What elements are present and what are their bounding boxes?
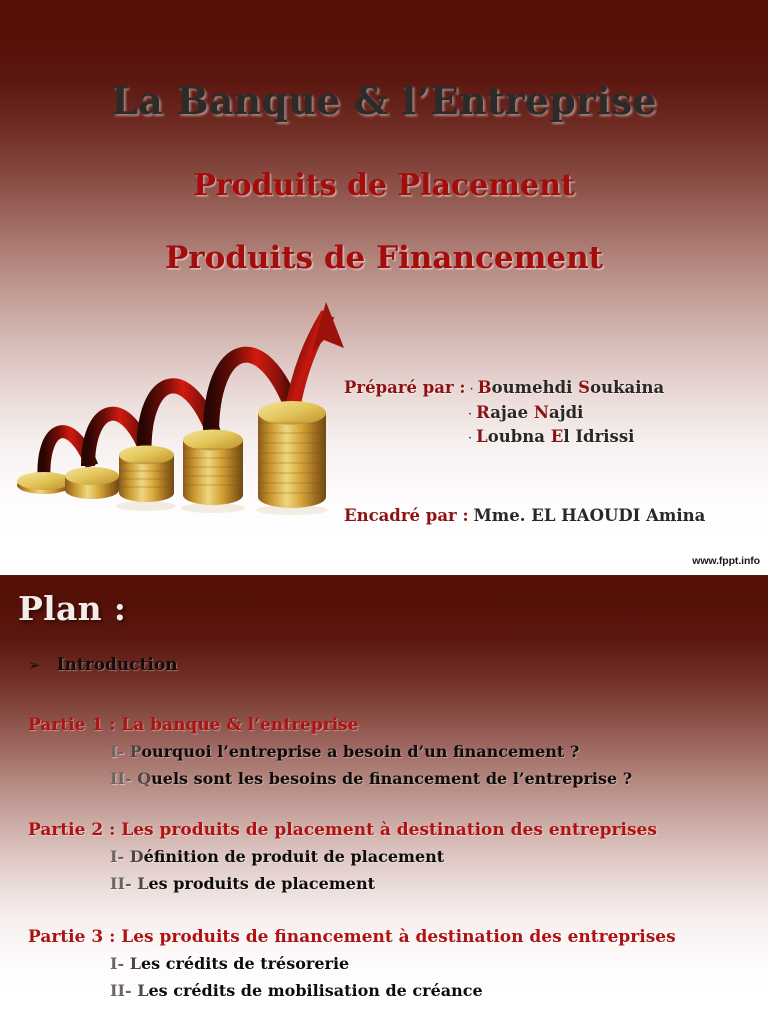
roman-numeral: II- xyxy=(110,769,132,788)
subitem-text: éfinition de produit de placement xyxy=(144,847,445,866)
part-subitem[interactable]: I- Les crédits de trésorerie xyxy=(110,954,768,974)
part-subitem[interactable]: II- Quels sont les besoins de financemen… xyxy=(110,769,768,789)
list-bullet-icon: · xyxy=(470,383,474,396)
plan-part-3: Partie 3 : Les produits de financement à… xyxy=(0,927,768,1001)
supervisor-name: Mme. EL HAOUDI Amina xyxy=(474,506,706,525)
part-heading[interactable]: Partie 3 : Les produits de financement à… xyxy=(28,927,768,948)
supervisor-label: Encadré par : xyxy=(344,506,469,525)
subtitle-financement: Produits de Financement xyxy=(0,240,768,276)
plan-item-introduction[interactable]: ➢ Introduction xyxy=(28,655,178,675)
author-name-3: Loubna El Idrissi xyxy=(476,429,634,446)
part-subitem[interactable]: I- Définition de produit de placement xyxy=(110,847,768,867)
page-title: La Banque & l’Entreprise xyxy=(0,78,768,123)
part-subitem[interactable]: I- Pourquoi l’entreprise a besoin d’un f… xyxy=(110,742,768,762)
subtitle-placement: Produits de Placement xyxy=(0,168,768,203)
roman-numeral: I- xyxy=(110,954,124,973)
author-name-1: Boumehdi Soukaina xyxy=(478,380,664,397)
lead-letter: P xyxy=(130,742,142,761)
author-initial-2: N xyxy=(534,403,549,422)
roman-numeral: II- xyxy=(110,981,132,1000)
title-slide: La Banque & l’Entreprise Produits de Pla… xyxy=(0,0,768,575)
part-heading[interactable]: Partie 2 : Les produits de placement à d… xyxy=(28,820,768,841)
author-initial-2: E xyxy=(551,427,564,446)
author-initial: B xyxy=(478,378,492,397)
arrow-bullet-icon: ➢ xyxy=(28,656,41,674)
part-subitem[interactable]: II- Les crédits de mobilisation de créan… xyxy=(110,981,768,1001)
supervisor-row: Encadré par :Mme. EL HAOUDI Amina xyxy=(344,506,705,525)
list-bullet-icon: · xyxy=(468,408,472,421)
part-subitem[interactable]: II- Les produits de placement xyxy=(110,874,768,894)
coin-stacks-arrow-illustration xyxy=(6,300,354,515)
prepared-by-row: Préparé par : · Boumehdi Soukaina xyxy=(344,380,768,397)
lead-letter: Q xyxy=(137,769,151,788)
author-initial: R xyxy=(476,403,490,422)
prepared-by-label: Préparé par : xyxy=(344,380,466,397)
author-initial-2: S xyxy=(578,378,590,397)
subitem-text: es crédits de trésorerie xyxy=(141,954,349,973)
list-bullet-icon: · xyxy=(468,432,472,445)
author-rest-2: l Idrissi xyxy=(563,427,634,446)
author-initial: L xyxy=(476,427,488,446)
subitem-text: uels sont les besoins de financement de … xyxy=(151,769,632,788)
introduction-label: Introduction xyxy=(57,655,178,675)
fppt-watermark: www.fppt.info xyxy=(692,555,760,567)
subitem-text: es crédits de mobilisation de créance xyxy=(148,981,482,1000)
roman-numeral: I- xyxy=(110,742,124,761)
authors-block: Préparé par : · Boumehdi Soukaina · Raja… xyxy=(344,380,768,454)
author-rest-2: oukaina xyxy=(590,378,664,397)
part-heading[interactable]: Partie 1 : La banque & l’entreprise xyxy=(28,715,768,736)
author-rest: ajae xyxy=(490,403,534,422)
author-row-3: · Loubna El Idrissi xyxy=(344,429,768,446)
roman-numeral: I- xyxy=(110,847,124,866)
subitem-text: es produits de placement xyxy=(148,874,375,893)
lead-letter: L xyxy=(130,954,141,973)
lead-letter: D xyxy=(130,847,144,866)
author-rest: oubna xyxy=(488,427,551,446)
lead-letter: L xyxy=(137,874,148,893)
presentation-page: La Banque & l’Entreprise Produits de Pla… xyxy=(0,0,768,1024)
plan-part-2: Partie 2 : Les produits de placement à d… xyxy=(0,820,768,894)
author-row-2: · Rajae Najdi xyxy=(344,405,768,422)
author-rest: oumehdi xyxy=(492,378,579,397)
author-rest-2: ajdi xyxy=(549,403,583,422)
author-name-2: Rajae Najdi xyxy=(476,405,583,422)
plan-slide: Plan : ➢ Introduction Partie 1 : La banq… xyxy=(0,575,768,1024)
lead-letter: L xyxy=(137,981,148,1000)
plan-content: ➢ Introduction Partie 1 : La banque & l’… xyxy=(0,575,768,1024)
subitem-text: ourquoi l’entreprise a besoin d’un finan… xyxy=(141,742,579,761)
roman-numeral: II- xyxy=(110,874,132,893)
plan-part-1: Partie 1 : La banque & l’entreprise I- P… xyxy=(0,715,768,789)
